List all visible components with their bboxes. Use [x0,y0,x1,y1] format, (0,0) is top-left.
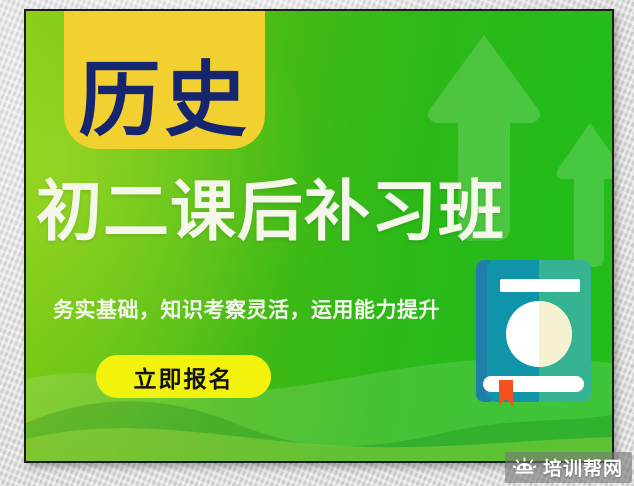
subject-badge: 历史 [64,11,265,149]
book-icon [475,258,593,406]
subject-badge-label: 历史 [78,62,250,141]
sun-face-logo-icon [513,457,536,479]
watermark: 培训帮网 [505,452,632,483]
banner-subtitle: 务实基础，知识考察灵活，运用能力提升 [53,294,440,324]
bookmark-icon [499,380,513,406]
enroll-now-button-label: 立即报名 [134,360,234,394]
watermark-label: 培训帮网 [543,454,623,481]
enroll-now-button[interactable]: 立即报名 [96,355,271,398]
promo-banner-frame: 历史 初二课后补习班 务实基础，知识考察灵活，运用能力提升 立即报名 [24,9,614,463]
page-background: 历史 初二课后补习班 务实基础，知识考察灵活，运用能力提升 立即报名 [0,0,634,486]
promo-banner: 历史 初二课后补习班 务实基础，知识考察灵活，运用能力提升 立即报名 [26,11,612,461]
banner-headline: 初二课后补习班 [36,179,612,245]
